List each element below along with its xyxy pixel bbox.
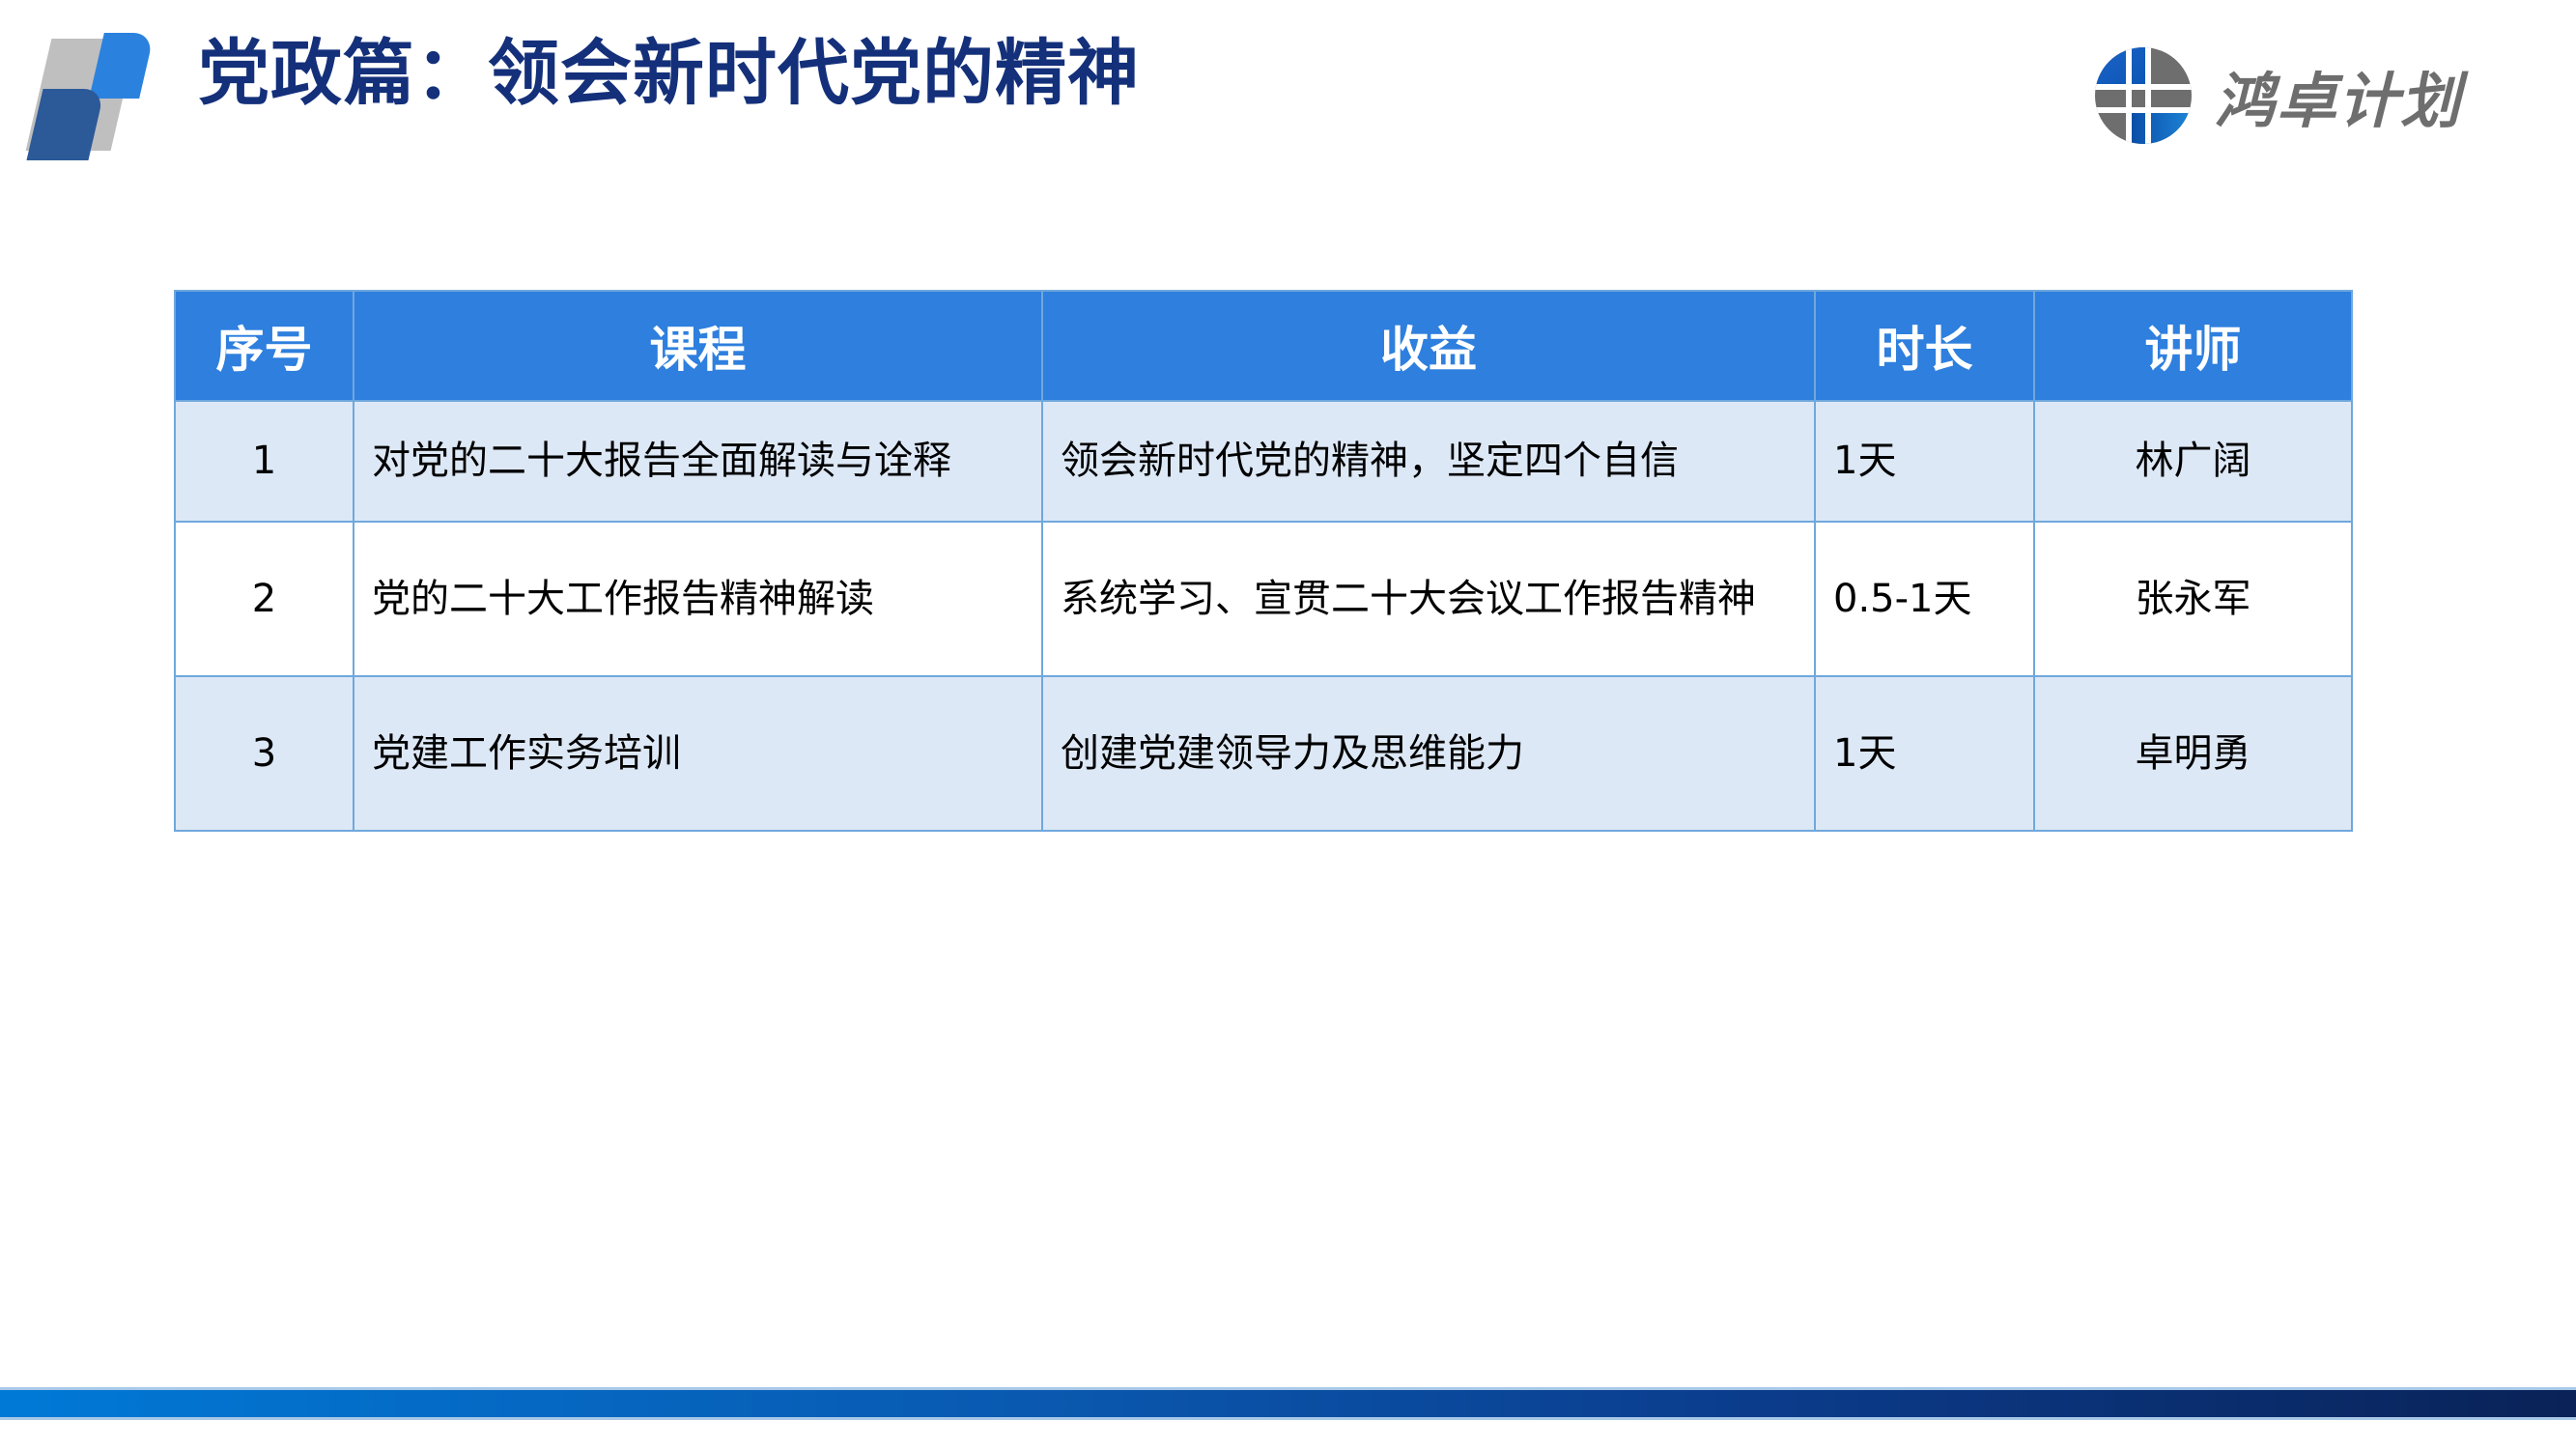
course-table: 序号 课程 收益 时长 讲师 1 对党的二十大报告全面解读与诠释 领会新时代党的… [174,290,2353,832]
cell-course: 党建工作实务培训 [354,676,1042,831]
cell-benefit: 系统学习、宣贯二十大会议工作报告精神 [1042,522,1815,676]
column-header-index: 序号 [175,291,354,401]
table-body: 1 对党的二十大报告全面解读与诠释 领会新时代党的精神，坚定四个自信 1天 林广… [175,401,2352,831]
cell-benefit: 领会新时代党的精神，坚定四个自信 [1042,401,1815,522]
brand-name: 鸿卓计划 [2215,52,2462,139]
cell-teacher: 卓明勇 [2034,676,2352,831]
table-row: 2 党的二十大工作报告精神解读 系统学习、宣贯二十大会议工作报告精神 0.5-1… [175,522,2352,676]
cell-index: 1 [175,401,354,522]
cell-index: 2 [175,522,354,676]
hongzhuo-circle-emblem-icon [2093,45,2194,146]
column-header-duration: 时长 [1815,291,2034,401]
cell-course: 对党的二十大报告全面解读与诠释 [354,401,1042,522]
table-header-row: 序号 课程 收益 时长 讲师 [175,291,2352,401]
cell-duration: 1天 [1815,401,2034,522]
column-header-teacher: 讲师 [2034,291,2352,401]
brand-logo: 鸿卓计划 [2093,39,2462,153]
table-row: 3 党建工作实务培训 创建党建领导力及思维能力 1天 卓明勇 [175,676,2352,831]
cell-duration: 0.5-1天 [1815,522,2034,676]
table-head: 序号 课程 收益 时长 讲师 [175,291,2352,401]
cell-duration: 1天 [1815,676,2034,831]
page-title: 党政篇：领会新时代党的精神 [198,35,1140,113]
slide-header: 党政篇：领会新时代党的精神 [0,0,2576,169]
cell-teacher: 张永军 [2034,522,2352,676]
cell-teacher: 林广阔 [2034,401,2352,522]
parallelogram-stack-icon [21,21,166,156]
column-header-benefit: 收益 [1042,291,1815,401]
column-header-course: 课程 [354,291,1042,401]
cell-index: 3 [175,676,354,831]
cell-course: 党的二十大工作报告精神解读 [354,522,1042,676]
footer-gradient-bar [0,1387,2576,1420]
cell-benefit: 创建党建领导力及思维能力 [1042,676,1815,831]
table-row: 1 对党的二十大报告全面解读与诠释 领会新时代党的精神，坚定四个自信 1天 林广… [175,401,2352,522]
